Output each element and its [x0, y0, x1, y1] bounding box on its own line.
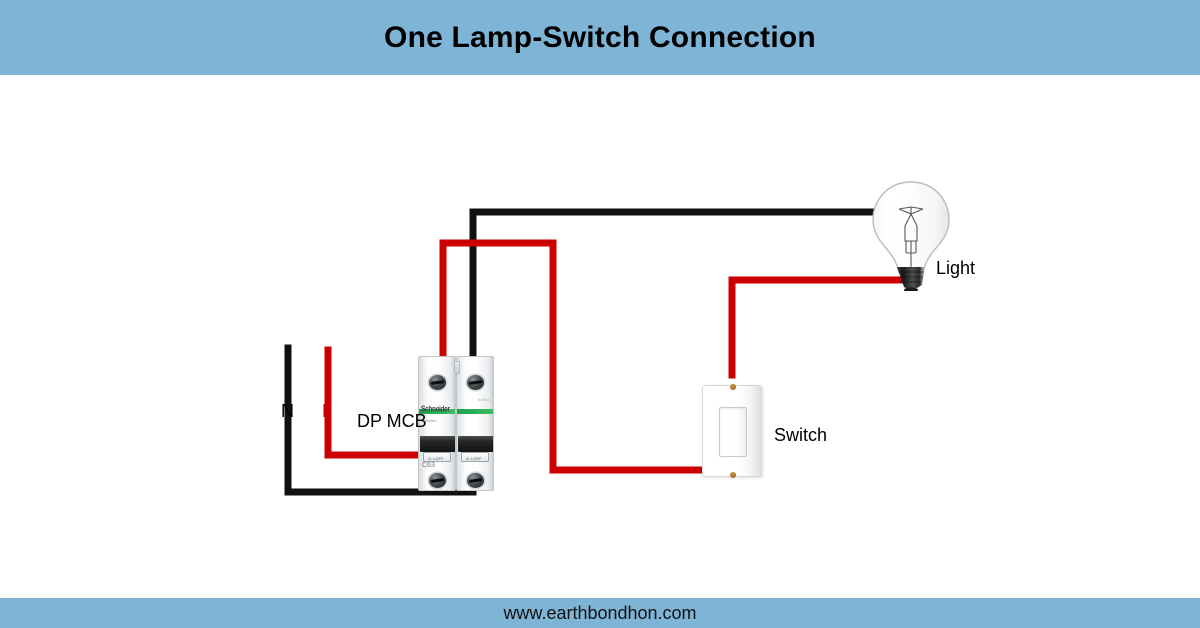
page-title: One Lamp-Switch Connection: [384, 21, 816, 55]
mcb-toggle-lever-right[interactable]: [458, 436, 494, 452]
mcb-top-housing-left: [418, 356, 456, 395]
mcb-toggle-lever-left[interactable]: [420, 436, 456, 452]
label-switch: Switch: [774, 425, 827, 446]
mcb-rating-label: C63: [422, 462, 435, 469]
footer-website-url: www.earthbondhon.com: [503, 603, 696, 624]
mcb-toggle-zone-right[interactable]: O-I-OFF: [456, 435, 494, 470]
label-line: L: [322, 401, 332, 422]
label-dp-mcb: DP MCB: [357, 411, 427, 432]
mcb-terminal-screw-top-right: [467, 375, 484, 390]
switch-rocker[interactable]: [719, 407, 747, 457]
label-neutral: N: [281, 401, 294, 422]
switch-terminal-bottom: [730, 472, 736, 478]
wall-switch-component[interactable]: [702, 385, 762, 477]
mcb-bottom-housing-left: [418, 470, 456, 491]
mcb-dovetail-notch: [454, 361, 460, 374]
mcb-terminal-screw-bottom-left: [429, 473, 446, 488]
mcb-bottom-housing-right: [456, 470, 494, 491]
switch-terminal-top: [730, 384, 736, 390]
mcb-terminal-screw-bottom-right: [467, 473, 484, 488]
mcb-toggle-window-left: O-I-OFF: [423, 452, 451, 462]
mcb-type-code: A9N61: [478, 397, 490, 402]
mcb-brand-housing-right: A9N61: [456, 395, 494, 435]
mcb-toggle-window-text-left: O-I-OFF: [428, 456, 444, 461]
mcb-top-housing-right: [456, 356, 494, 395]
wire-neutral-to-lamp: [473, 212, 908, 380]
dp-mcb-component[interactable]: Schneider Electric O-I-OFF C63: [418, 356, 494, 491]
wiring-svg: [0, 75, 1200, 598]
mcb-terminal-screw-top-left: [429, 375, 446, 390]
mcb-toggle-window-text-right: O-I-OFF: [466, 456, 482, 461]
bulb-screw-cap: [897, 267, 925, 291]
diagram-canvas: Schneider Electric O-I-OFF C63: [0, 75, 1200, 598]
diagram-page: One Lamp-Switch Connection: [0, 0, 1200, 628]
mcb-toggle-zone-left[interactable]: O-I-OFF C63: [418, 435, 456, 470]
mcb-pole-right: A9N61 O-I-OFF: [456, 356, 494, 491]
header-band: One Lamp-Switch Connection: [0, 0, 1200, 75]
mcb-toggle-window-right: O-I-OFF: [461, 452, 489, 462]
mcb-green-band-right: [457, 409, 494, 414]
footer-band: www.earthbondhon.com: [0, 598, 1200, 628]
label-light: Light: [936, 258, 975, 279]
